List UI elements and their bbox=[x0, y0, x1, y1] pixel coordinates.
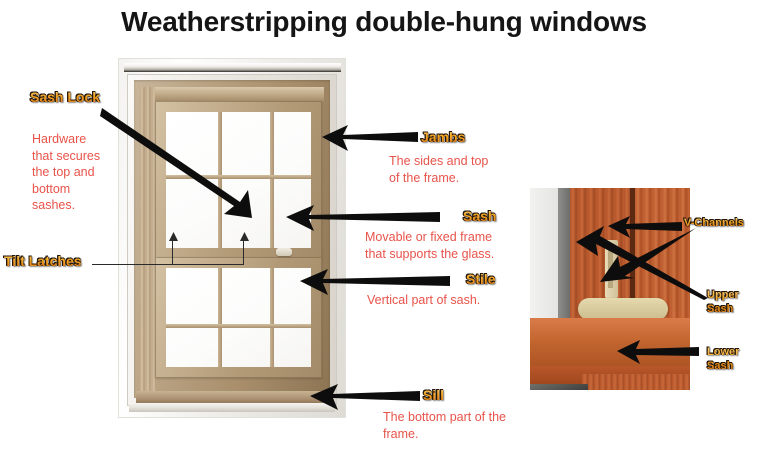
left-arrow-icon bbox=[310, 382, 420, 412]
photo-shadow-band bbox=[558, 188, 570, 336]
left-arrow-icon bbox=[322, 123, 418, 153]
photo-lower-sash bbox=[582, 374, 690, 390]
label-sash: Sash bbox=[463, 208, 496, 224]
muntin-horizontal bbox=[166, 324, 311, 328]
up-arrow-icon bbox=[168, 232, 179, 242]
label-stile: Stile bbox=[466, 271, 496, 287]
muntin-vertical bbox=[218, 268, 222, 367]
window-sill-apron bbox=[129, 403, 335, 412]
label-tilt-latches: Tilt Latches bbox=[4, 253, 82, 269]
illustration-canvas: Weatherstripping double-hung windows bbox=[0, 0, 768, 456]
label-lower-sash: Lower Sash bbox=[707, 345, 739, 373]
page-title: Weatherstripping double-hung windows bbox=[0, 6, 768, 38]
up-arrow-icon bbox=[239, 232, 250, 242]
photo-lower-glass bbox=[530, 384, 588, 390]
lower-sash-glass bbox=[166, 268, 311, 367]
label-sill: Sill bbox=[423, 387, 444, 403]
label-upper-sash: Upper Sash bbox=[707, 288, 739, 316]
window-head-shadow bbox=[124, 63, 341, 72]
description-stile: Vertical part of sash. bbox=[367, 292, 577, 309]
photo-wall bbox=[530, 188, 558, 336]
diagonal-arrow-icon bbox=[576, 220, 708, 300]
leader-line-tilt-latches bbox=[92, 264, 244, 265]
description-sash: Movable or fixed frame that supports the… bbox=[365, 229, 575, 262]
diagonal-arrow-icon bbox=[100, 106, 272, 230]
description-sill: The bottom part of the frame. bbox=[383, 409, 583, 442]
label-jambs: Jambs bbox=[421, 129, 465, 145]
left-arrow-icon bbox=[617, 339, 699, 365]
sash-lock-hardware bbox=[276, 248, 292, 256]
muntin-vertical bbox=[270, 268, 274, 367]
lower-sash bbox=[155, 257, 322, 378]
label-sash-lock: Sash Lock bbox=[30, 89, 100, 105]
description-jambs: The sides and top of the frame. bbox=[389, 153, 579, 186]
photo-strike-plate bbox=[578, 298, 668, 320]
